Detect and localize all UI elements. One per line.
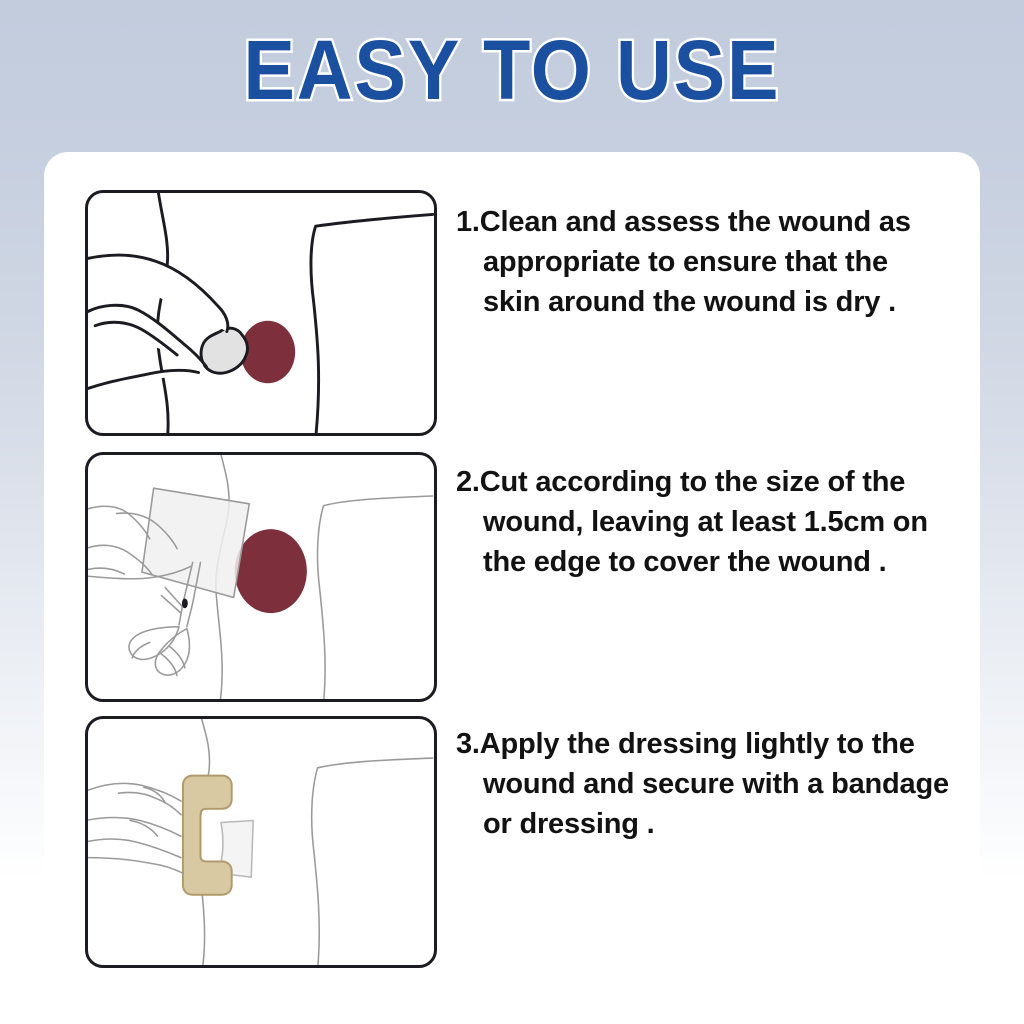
illustration-applying-dressing [88, 719, 434, 965]
dressing-square [142, 488, 249, 597]
step-2-line-3: the edge to cover the wound . [456, 542, 966, 582]
step-1-line-2: appropriate to ensure that the [456, 242, 966, 282]
illustration-hand-cleaning-wound [88, 193, 434, 433]
illustration-panel-step-3 [85, 716, 437, 968]
page-title: EASY TO USE [243, 24, 780, 116]
step-3-line-1: 3.Apply the dressing lightly to the [456, 724, 966, 764]
step-2-line-2: wound, leaving at least 1.5cm on [456, 502, 966, 542]
step-text-3: 3.Apply the dressing lightly to the woun… [456, 724, 966, 844]
gauze-swab [201, 328, 247, 373]
steps-list: 1.Clean and assess the wound as appropri… [456, 152, 966, 1012]
wound-mark [235, 529, 307, 613]
wound-mark [241, 321, 296, 383]
step-3-line-3: or dressing . [456, 804, 966, 844]
step-1-line-1: 1.Clean and assess the wound as [456, 202, 966, 242]
illustration-panel-step-2 [85, 452, 437, 702]
page-header: EASY TO USE [0, 24, 1024, 116]
step-2-line-1: 2.Cut according to the size of the [456, 462, 966, 502]
step-text-1: 1.Clean and assess the wound as appropri… [456, 202, 966, 322]
illustration-cutting-dressing [88, 455, 434, 699]
step-1-line-3: skin around the wound is dry . [456, 282, 966, 322]
step-3-line-2: wound and secure with a bandage [456, 764, 966, 804]
illustration-panel-step-1 [85, 190, 437, 436]
step-text-2: 2.Cut according to the size of the wound… [456, 462, 966, 582]
